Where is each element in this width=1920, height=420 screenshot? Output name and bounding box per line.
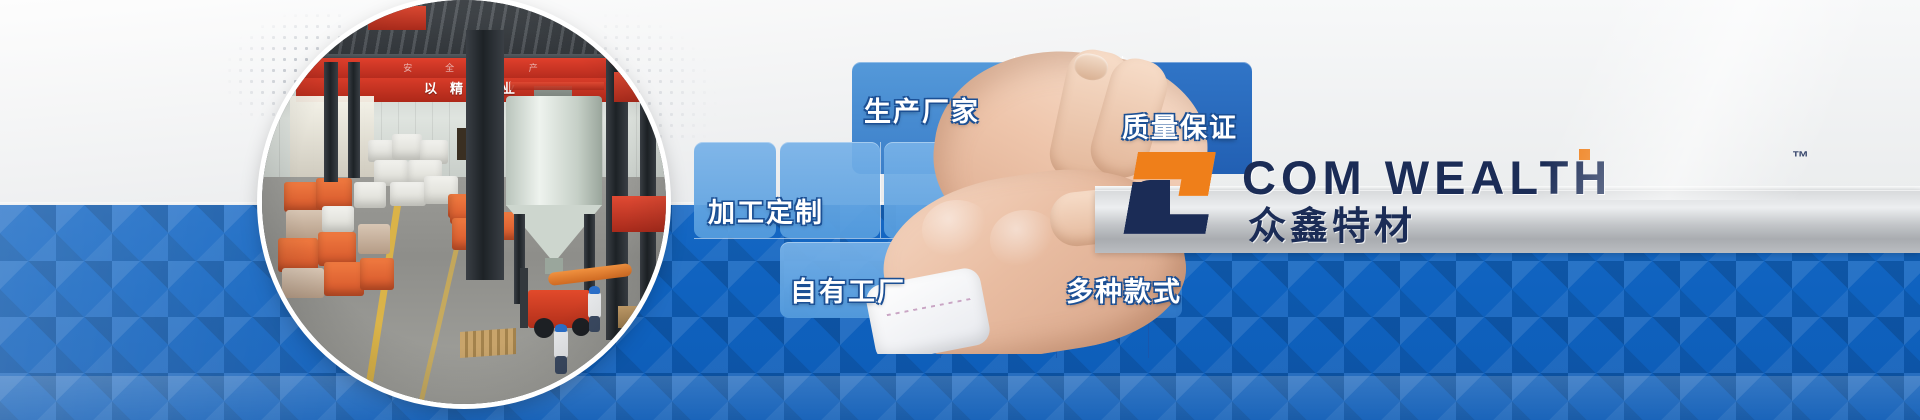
tile-label-duozhong: 多种款式 [1066, 270, 1182, 309]
photo-vignette [262, 0, 666, 404]
com-wealth-logo-mark [1128, 150, 1220, 234]
logo-chinese-text: 众鑫特材 [1248, 195, 1416, 250]
tile-label-zhiliang: 质量保证 [1122, 106, 1238, 145]
trademark-symbol: ™ [1792, 148, 1809, 168]
factory-photo-circle: 安 全 生 产 以精立业 [262, 0, 666, 404]
logo-english-accent: H [1573, 151, 1612, 204]
tile-label-ziyou: 自有工厂 [790, 270, 906, 309]
knuckle [922, 200, 992, 260]
knuckle [990, 210, 1060, 270]
factory-photo: 安 全 生 产 以精立业 [262, 0, 666, 404]
tile-label-shengchan: 生产厂家 [864, 90, 980, 129]
tile-label-jiagong: 加工定制 [708, 191, 824, 230]
promo-banner: 安 全 生 产 以精立业 [0, 0, 1920, 420]
